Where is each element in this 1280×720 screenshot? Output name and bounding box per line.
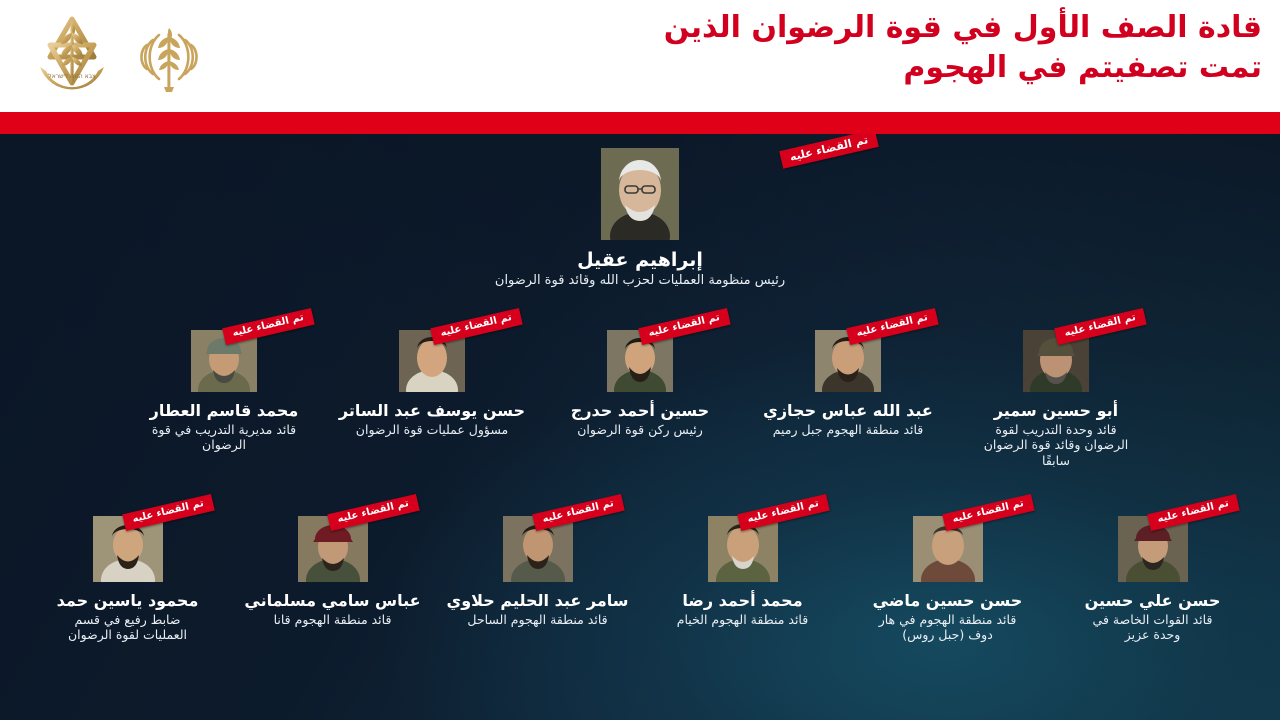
status-badge: تم القضاء عليه [779,134,879,169]
commander-card[interactable]: تم القضاء عليه محمد قاسم العطار قائد مدي… [120,330,328,468]
commander-name: محمود ياسين حمد [25,591,230,611]
commander-name: حسن يوسف عبد الساتر [328,401,536,421]
portrait-wrap: تم القضاء عليه [845,516,1050,582]
commander-card[interactable]: تم القضاء عليه إبراهيم عقيل رئيس منظومة … [380,148,900,289]
commander-card[interactable]: تم القضاء عليه عبد الله عباس حجازي قائد … [744,330,952,468]
commander-role: قائد منطقة الهجوم قانا [233,612,433,628]
portrait-wrap: تم القضاء عليه [328,330,536,392]
commander-role: قائد القوات الخاصة في وحدة عزيز [1078,612,1228,643]
content-canvas: تم القضاء عليه إبراهيم عقيل رئيس منظومة … [0,134,1280,720]
commander-card[interactable]: تم القضاء عليه حسين أحمد حدرج رئيس ركن ق… [536,330,744,468]
commander-name: أبو حسين سمير [952,401,1160,421]
page-title-line-2: تمت تصفيتم في الهجوم [472,48,1262,88]
commander-role: قائد منطقة الهجوم في هار دوف (جبل روس) [873,612,1023,643]
portrait-wrap: تم القضاء عليه [25,516,230,582]
commander-name: محمد قاسم العطار [120,401,328,421]
portrait-wrap: تم القضاء عليه [1050,516,1255,582]
portrait-wrap: تم القضاء عليه [536,330,744,392]
commander-role: قائد منطقة الهجوم جبل رميم [748,422,948,438]
commander-name: حسن حسين ماضي [845,591,1050,611]
commander-name: عبد الله عباس حجازي [744,401,952,421]
commander-row-3: تم القضاء عليه حسن علي حسين قائد القوات … [0,516,1280,643]
portrait-wrap: تم القضاء عليه [380,148,900,240]
portrait-wrap: تم القضاء عليه [640,516,845,582]
commander-card[interactable]: تم القضاء عليه حسن حسين ماضي قائد منطقة … [845,516,1050,643]
commander-role: رئيس منظومة العمليات لحزب الله وقائد قوة… [380,273,900,289]
status-badge: تم القضاء عليه [123,494,215,531]
logo-group: צבא הגנה לישראל [28,8,206,104]
commander-name: سامر عبد الحليم حلاوي [435,591,640,611]
status-badge: تم القضاء عليه [738,494,830,531]
status-badge: تم القضاء عليه [639,308,731,345]
status-badge: تم القضاء عليه [943,494,1035,531]
status-badge: تم القضاء عليه [1148,494,1240,531]
header-red-divider [0,112,1280,134]
commander-card[interactable]: تم القضاء عليه محمود ياسين حمد ضابط رفيع… [25,516,230,643]
commander-card[interactable]: تم القضاء عليه محمد أحمد رضا قائد منطقة … [640,516,845,643]
commander-name: حسن علي حسين [1050,591,1255,611]
portrait-wrap: تم القضاء عليه [952,330,1160,392]
commander-card[interactable]: تم القضاء عليه أبو حسين سمير قائد وحدة ا… [952,330,1160,468]
status-badge: تم القضاء عليه [1055,308,1147,345]
idf-emblem-icon: צבא הגנה לישראל [28,11,116,101]
commander-role: قائد منطقة الهجوم الخيام [643,612,843,628]
commander-role: مسؤول عمليات قوة الرضوان [332,422,532,438]
commander-role: ضابط رفيع في قسم العمليات لقوة الرضوان [53,612,203,643]
page-title-line-1: قادة الصف الأول في قوة الرضوان الذين [472,8,1262,48]
commander-role: قائد منطقة الهجوم الساحل [438,612,638,628]
portrait-wrap: تم القضاء عليه [230,516,435,582]
commander-role: قائد مديرية التدريب في قوة الرضوان [149,422,299,453]
commander-card[interactable]: تم القضاء عليه حسن علي حسين قائد القوات … [1050,516,1255,643]
svg-text:צבא הגנה לישראל: צבא הגנה לישראל [48,73,96,80]
status-badge: تم القضاء عليه [223,308,315,345]
commander-card[interactable]: تم القضاء عليه سامر عبد الحليم حلاوي قائ… [435,516,640,643]
commander-row-2: تم القضاء عليه أبو حسين سمير قائد وحدة ا… [0,330,1280,468]
portrait-wrap: تم القضاء عليه [435,516,640,582]
commander-name: حسين أحمد حدرج [536,401,744,421]
portrait-wrap: تم القضاء عليه [744,330,952,392]
commander-name: إبراهيم عقيل [380,249,900,272]
portrait-wrap: تم القضاء عليه [120,330,328,392]
status-badge: تم القضاء عليه [847,308,939,345]
page-title: قادة الصف الأول في قوة الرضوان الذين تمت… [472,8,1262,87]
commander-card[interactable]: تم القضاء عليه عباس سامي مسلماني قائد من… [230,516,435,643]
broadcast-olive-branch-emblem-icon [132,13,206,99]
status-badge: تم القضاء عليه [328,494,420,531]
commander-name: محمد أحمد رضا [640,591,845,611]
status-badge: تم القضاء عليه [431,308,523,345]
page-header: צבא הגנה לישראל قادة الصف الأول في قوة ا… [0,0,1280,112]
commander-name: عباس سامي مسلماني [230,591,435,611]
status-badge: تم القضاء عليه [533,494,625,531]
commander-role: رئيس ركن قوة الرضوان [540,422,740,438]
commander-role: قائد وحدة التدريب لقوة الرضوان وقائد قوة… [981,422,1131,469]
commander-row-1: تم القضاء عليه إبراهيم عقيل رئيس منظومة … [0,148,1280,289]
portrait-ibrahim-aqil [601,148,679,240]
commander-card[interactable]: تم القضاء عليه حسن يوسف عبد الساتر مسؤول… [328,330,536,468]
